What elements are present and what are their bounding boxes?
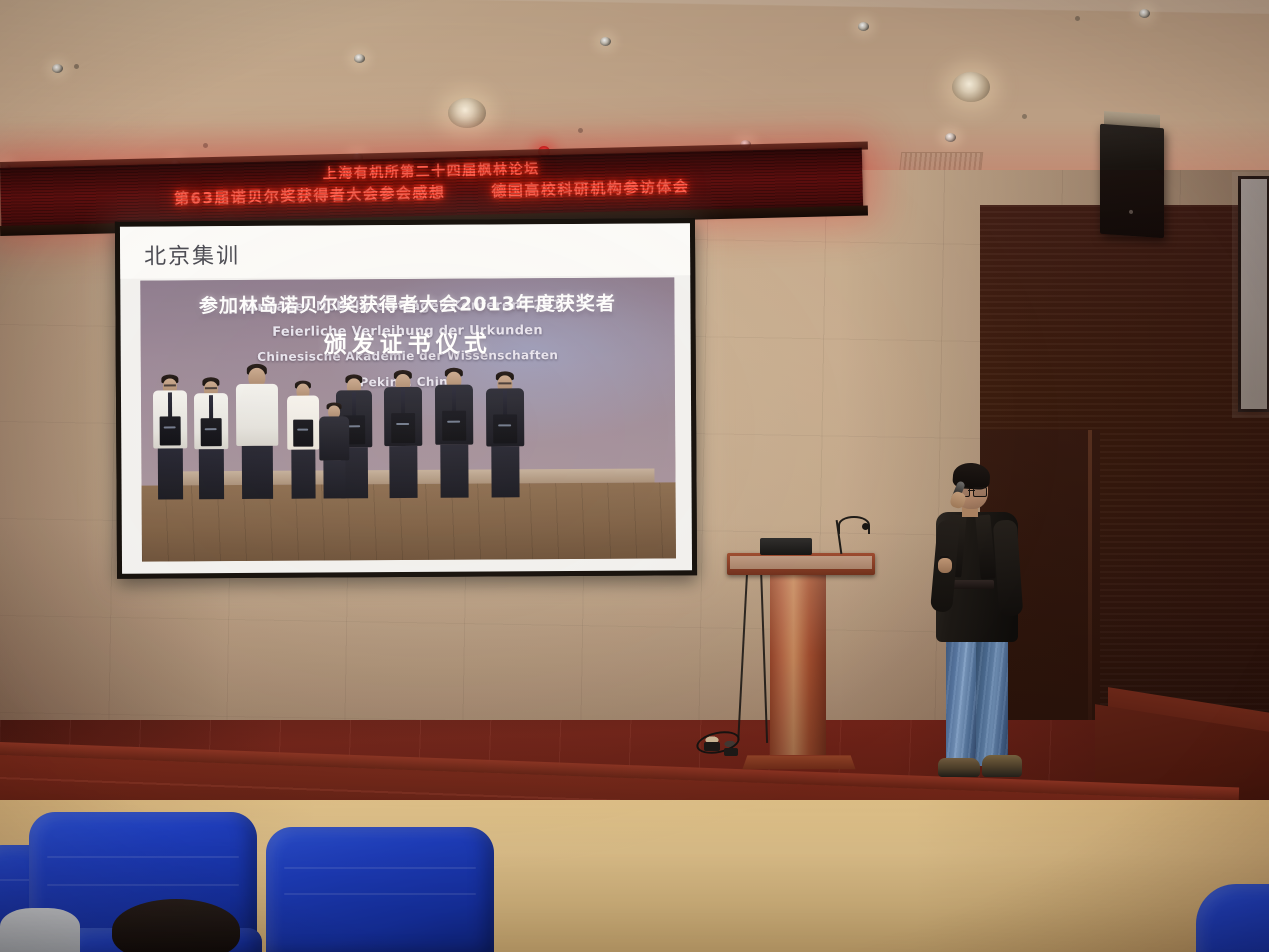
ceiling-sensor-icon [1075, 16, 1080, 21]
slide-person-certificate-folder [442, 411, 466, 441]
slide-person [194, 377, 229, 499]
presenter-leg-right [976, 630, 1008, 766]
downlight-icon [52, 64, 63, 73]
downlight-icon [1139, 9, 1150, 18]
presenter-belt [952, 580, 994, 589]
cable-plug [724, 748, 738, 756]
ceiling-sensor-icon [74, 64, 79, 69]
slide-person-glasses-icon [498, 383, 511, 388]
projection-screen: 北京集训 Lindauer Nobelpreisträger-Konferenz… [115, 218, 697, 579]
slide-person-legs [389, 446, 417, 498]
cable-plug [704, 742, 720, 751]
slide-person-glasses-icon [164, 385, 176, 390]
audience-member-head [112, 899, 240, 952]
slide-person-certificate-folder [293, 420, 313, 447]
chair[interactable] [266, 827, 494, 952]
downlight-icon [354, 54, 365, 63]
ceiling-sensor-icon [1022, 114, 1027, 119]
slide-photo: Lindauer Nobelpreisträger-Konferenz 2013… [140, 277, 676, 561]
slide-person-certificate-folder [160, 417, 181, 446]
slide-person-certificate-folder [201, 418, 222, 446]
slide-person-legs [242, 446, 273, 499]
downlight-icon [858, 22, 869, 31]
slide-person-legs [291, 450, 315, 499]
slide-person-torso [236, 384, 278, 446]
slide-person [384, 370, 423, 498]
slide-person-torso [319, 417, 349, 461]
microphone-capsule-icon [862, 523, 869, 530]
slide-person-legs [158, 449, 183, 500]
slide-person [153, 375, 188, 500]
presentation-slide: 北京集训 Lindauer Nobelpreisträger-Konferenz… [120, 223, 692, 573]
podium-column [770, 575, 826, 755]
slide-person-legs [491, 446, 519, 497]
audience-member-shoulder [0, 908, 80, 952]
lecture-hall-scene: 上海有机所第二十四届枫林论坛 第63届诺贝尔奖获得者大会参会感想德国高校科研机构… [0, 0, 1269, 952]
slide-person-legs [440, 445, 468, 498]
podium-base [742, 755, 855, 769]
slide-title: 北京集训 [144, 238, 240, 271]
podium-desktop-face [730, 556, 872, 569]
slide-person [287, 381, 320, 499]
presenter-hand-left [938, 558, 952, 573]
slide-person [236, 364, 279, 499]
slide-person-legs [323, 461, 345, 499]
slide-person-certificate-folder [493, 415, 517, 444]
slide-person [319, 403, 350, 499]
presenter-shoe-right [982, 755, 1022, 777]
slide-person-glasses-icon [205, 387, 217, 392]
slide-person-legs [199, 449, 224, 499]
presenter-leg-left [946, 630, 976, 766]
slide-person-certificate-folder [391, 413, 415, 443]
podium-control-box [760, 538, 812, 555]
slide-person [486, 371, 525, 497]
ceiling-light-fixture-icon [952, 72, 990, 102]
presenter-shoe-left [938, 758, 980, 777]
slide-person [435, 368, 474, 498]
led-banner-line-2-right: 德国高校科研机构参访体会 [491, 178, 689, 201]
led-banner-line-2-left: 第63届诺贝尔奖获得者大会参会感想 [174, 184, 446, 208]
downlight-icon [600, 37, 611, 46]
